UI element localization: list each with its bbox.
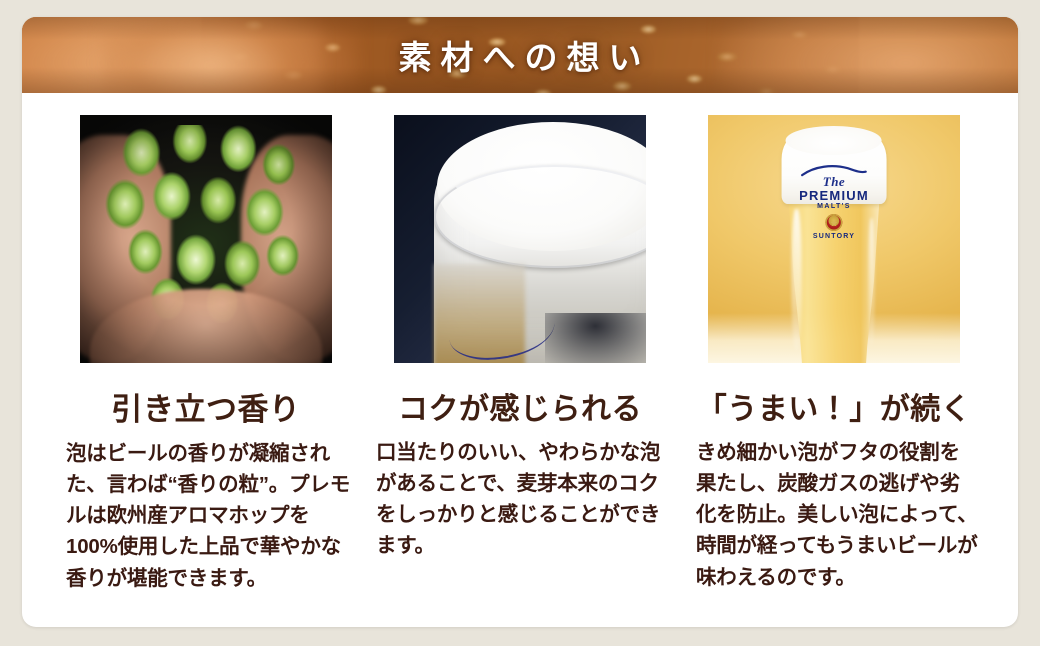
feature-columns: 引き立つ香り 泡はビールの香りが凝縮された、言わば“香りの粒”。プレモルは欧州産… bbox=[22, 93, 1018, 594]
beer-glass: The PREMIUM MALT'S SUNTORY bbox=[779, 150, 890, 363]
feature-body-body: 口当たりのいい、やわらかな泡があることで、麦芽本来のコクをしっかりと感じることが… bbox=[374, 437, 666, 562]
feature-body-lasting: きめ細かい泡がフタの役割を果たし、炭酸ガスの逃げや劣化を防止。美しい泡によって、… bbox=[688, 437, 980, 593]
feature-column-aroma: 引き立つ香り 泡はビールの香りが凝縮された、言わば“香りの粒”。プレモルは欧州産… bbox=[60, 115, 352, 594]
premium-malts-photo: The PREMIUM MALT'S SUNTORY bbox=[708, 115, 960, 363]
foam-photo bbox=[394, 115, 646, 363]
foam-photo-shadow bbox=[545, 313, 646, 363]
section-banner: 素材への想い bbox=[22, 17, 1018, 93]
feature-heading-body: コクが感じられる bbox=[374, 384, 666, 428]
feature-column-lasting: The PREMIUM MALT'S SUNTORY 「うまい！」が続く きめ細… bbox=[688, 115, 980, 594]
banner-title: 素材への想い bbox=[22, 17, 1018, 93]
hops-photo bbox=[80, 115, 332, 363]
feature-heading-lasting: 「うまい！」が続く bbox=[688, 384, 980, 428]
premium-malts-logo: The PREMIUM MALT'S SUNTORY bbox=[791, 163, 877, 240]
feature-column-body: コクが感じられる 口当たりのいい、やわらかな泡があることで、麦芽本来のコクをしっ… bbox=[374, 115, 666, 594]
feature-body-aroma: 泡はビールの香りが凝縮された、言わば“香りの粒”。プレモルは欧州産アロマホップを… bbox=[60, 438, 352, 594]
suntory-emblem-icon bbox=[826, 214, 843, 231]
content-card: 素材への想い 引き立つ香り 泡はビールの香りが凝縮された、言わば“香りの粒”。プ… bbox=[22, 17, 1018, 627]
logo-premium-text: PREMIUM bbox=[791, 189, 877, 202]
hops-photo-vignette bbox=[80, 115, 332, 363]
feature-heading-aroma: 引き立つ香り bbox=[60, 384, 352, 429]
logo-malts-text: MALT'S bbox=[791, 203, 877, 210]
logo-the-text: The bbox=[791, 175, 877, 188]
logo-suntory-text: SUNTORY bbox=[791, 233, 877, 240]
